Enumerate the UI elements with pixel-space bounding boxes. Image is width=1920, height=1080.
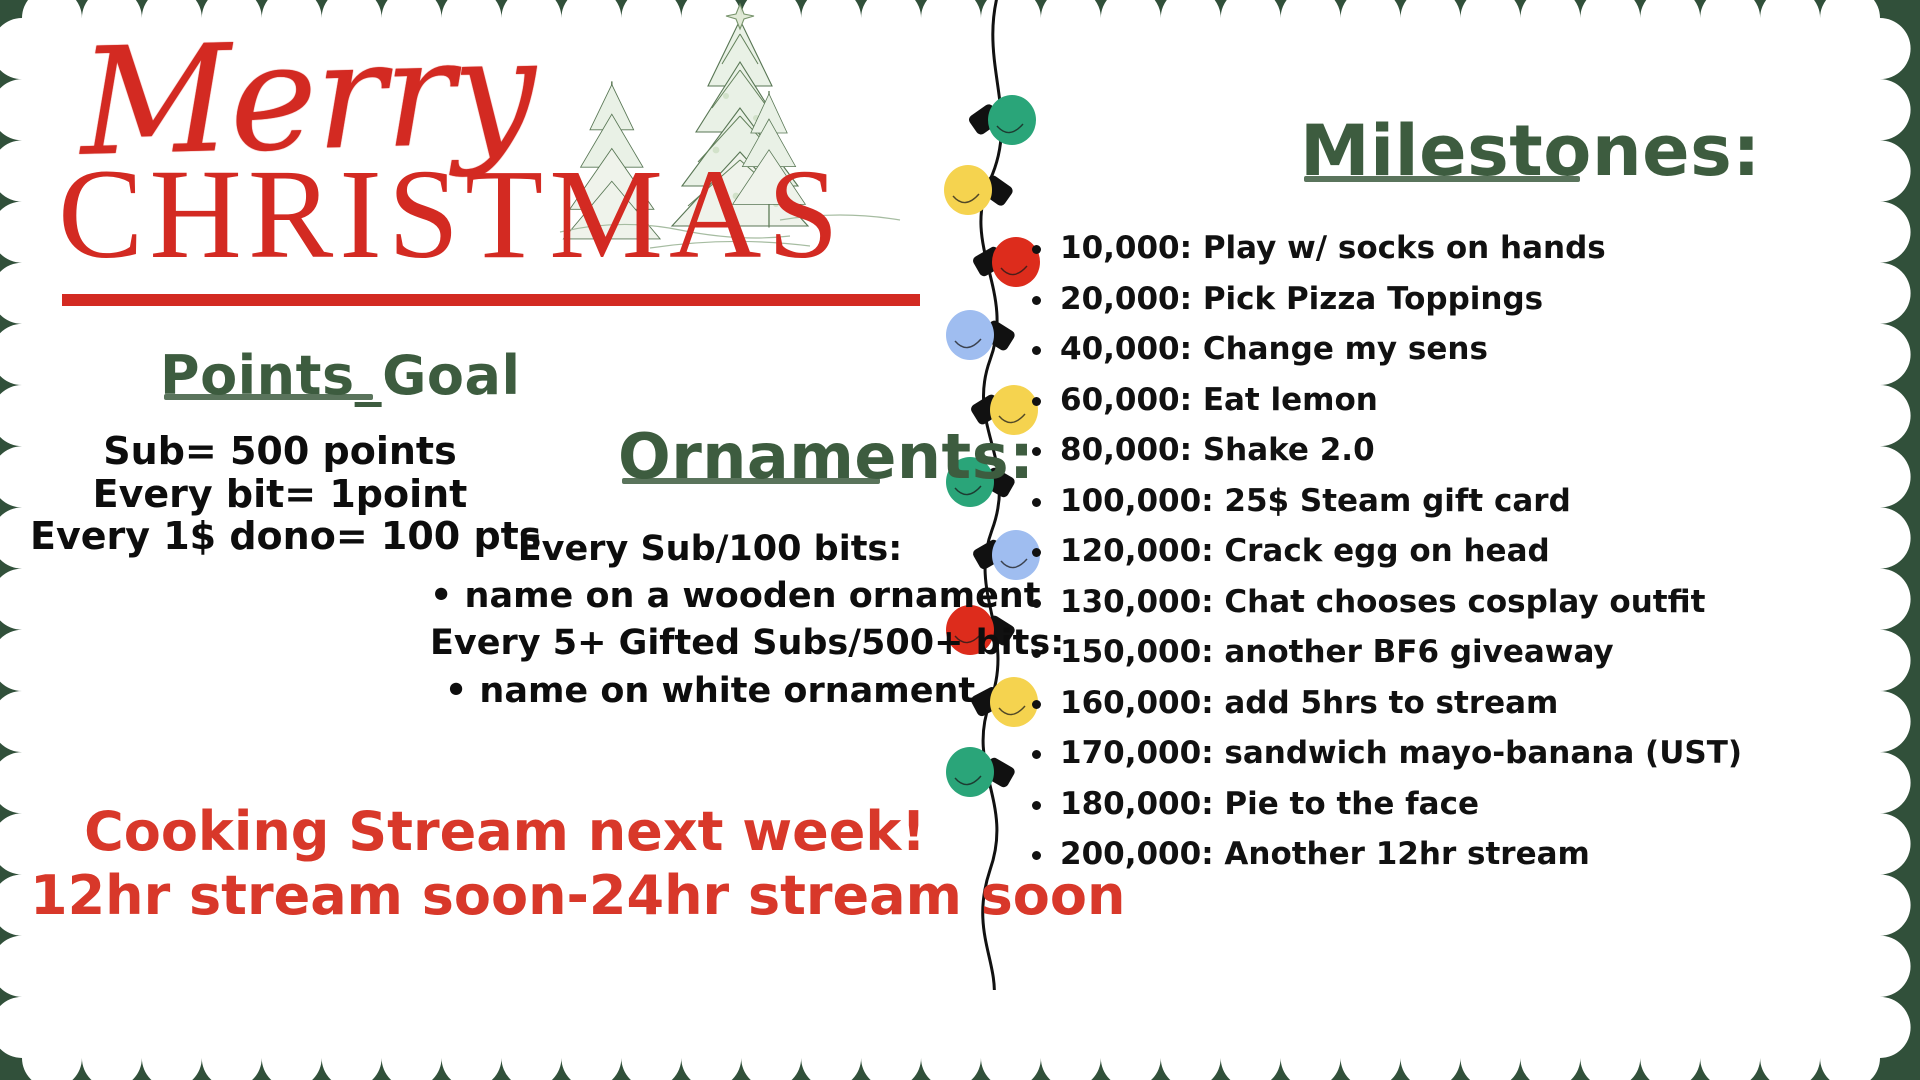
points-rule: Every bit= 1point — [30, 473, 530, 516]
ornaments-rule: • name on a wooden ornament — [430, 577, 990, 616]
milestone-item: 40,000: Change my sens — [1020, 331, 1900, 367]
milestone-item: 160,000: add 5hrs to stream — [1020, 685, 1900, 721]
milestone-item: 200,000: Another 12hr stream — [1020, 836, 1900, 872]
milestone-item: 60,000: Eat lemon — [1020, 382, 1900, 418]
heading-marker — [164, 394, 373, 400]
milestone-item: 180,000: Pie to the face — [1020, 786, 1900, 822]
milestones-list: 10,000: Play w/ socks on hands20,000: Pi… — [1020, 230, 1900, 887]
announcement-block: Cooking Stream next week! 12hr stream so… — [30, 800, 980, 927]
milestone-item: 120,000: Crack egg on head — [1020, 533, 1900, 569]
milestone-item: 130,000: Chat chooses cosplay outfit — [1020, 584, 1900, 620]
christmas-stream-overlay: Merry CHRISTMAS Points_Goal Sub= 500 poi… — [0, 0, 1920, 1080]
christmas-title: CHRISTMAS — [58, 150, 958, 278]
title-underline-rule — [62, 294, 920, 306]
milestone-item: 10,000: Play w/ socks on hands — [1020, 230, 1900, 266]
ornaments-rule: Every 5+ Gifted Subs/500+ bits: — [430, 624, 990, 663]
ornaments-rule: • name on white ornament — [430, 672, 990, 711]
announcement-line: 12hr stream soon-24hr stream soon — [30, 864, 980, 928]
points-rule: Sub= 500 points — [30, 430, 530, 473]
ornaments-rules: Every Sub/100 bits: • name on a wooden o… — [430, 530, 990, 719]
ornaments-rule: Every Sub/100 bits: — [430, 530, 990, 569]
light-bulb-10 — [946, 747, 1016, 797]
milestone-item: 20,000: Pick Pizza Toppings — [1020, 281, 1900, 317]
milestone-item: 100,000: 25$ Steam gift card — [1020, 483, 1900, 519]
light-bulb-4 — [946, 310, 1017, 360]
heading-marker — [622, 478, 880, 484]
heading-marker — [1304, 176, 1580, 182]
light-bulb-1 — [967, 95, 1036, 145]
milestone-item: 150,000: another BF6 giveaway — [1020, 634, 1900, 670]
milestone-item: 80,000: Shake 2.0 — [1020, 432, 1900, 468]
milestone-item: 170,000: sandwich mayo-banana (UST) — [1020, 735, 1900, 771]
announcement-line: Cooking Stream next week! — [30, 800, 980, 864]
